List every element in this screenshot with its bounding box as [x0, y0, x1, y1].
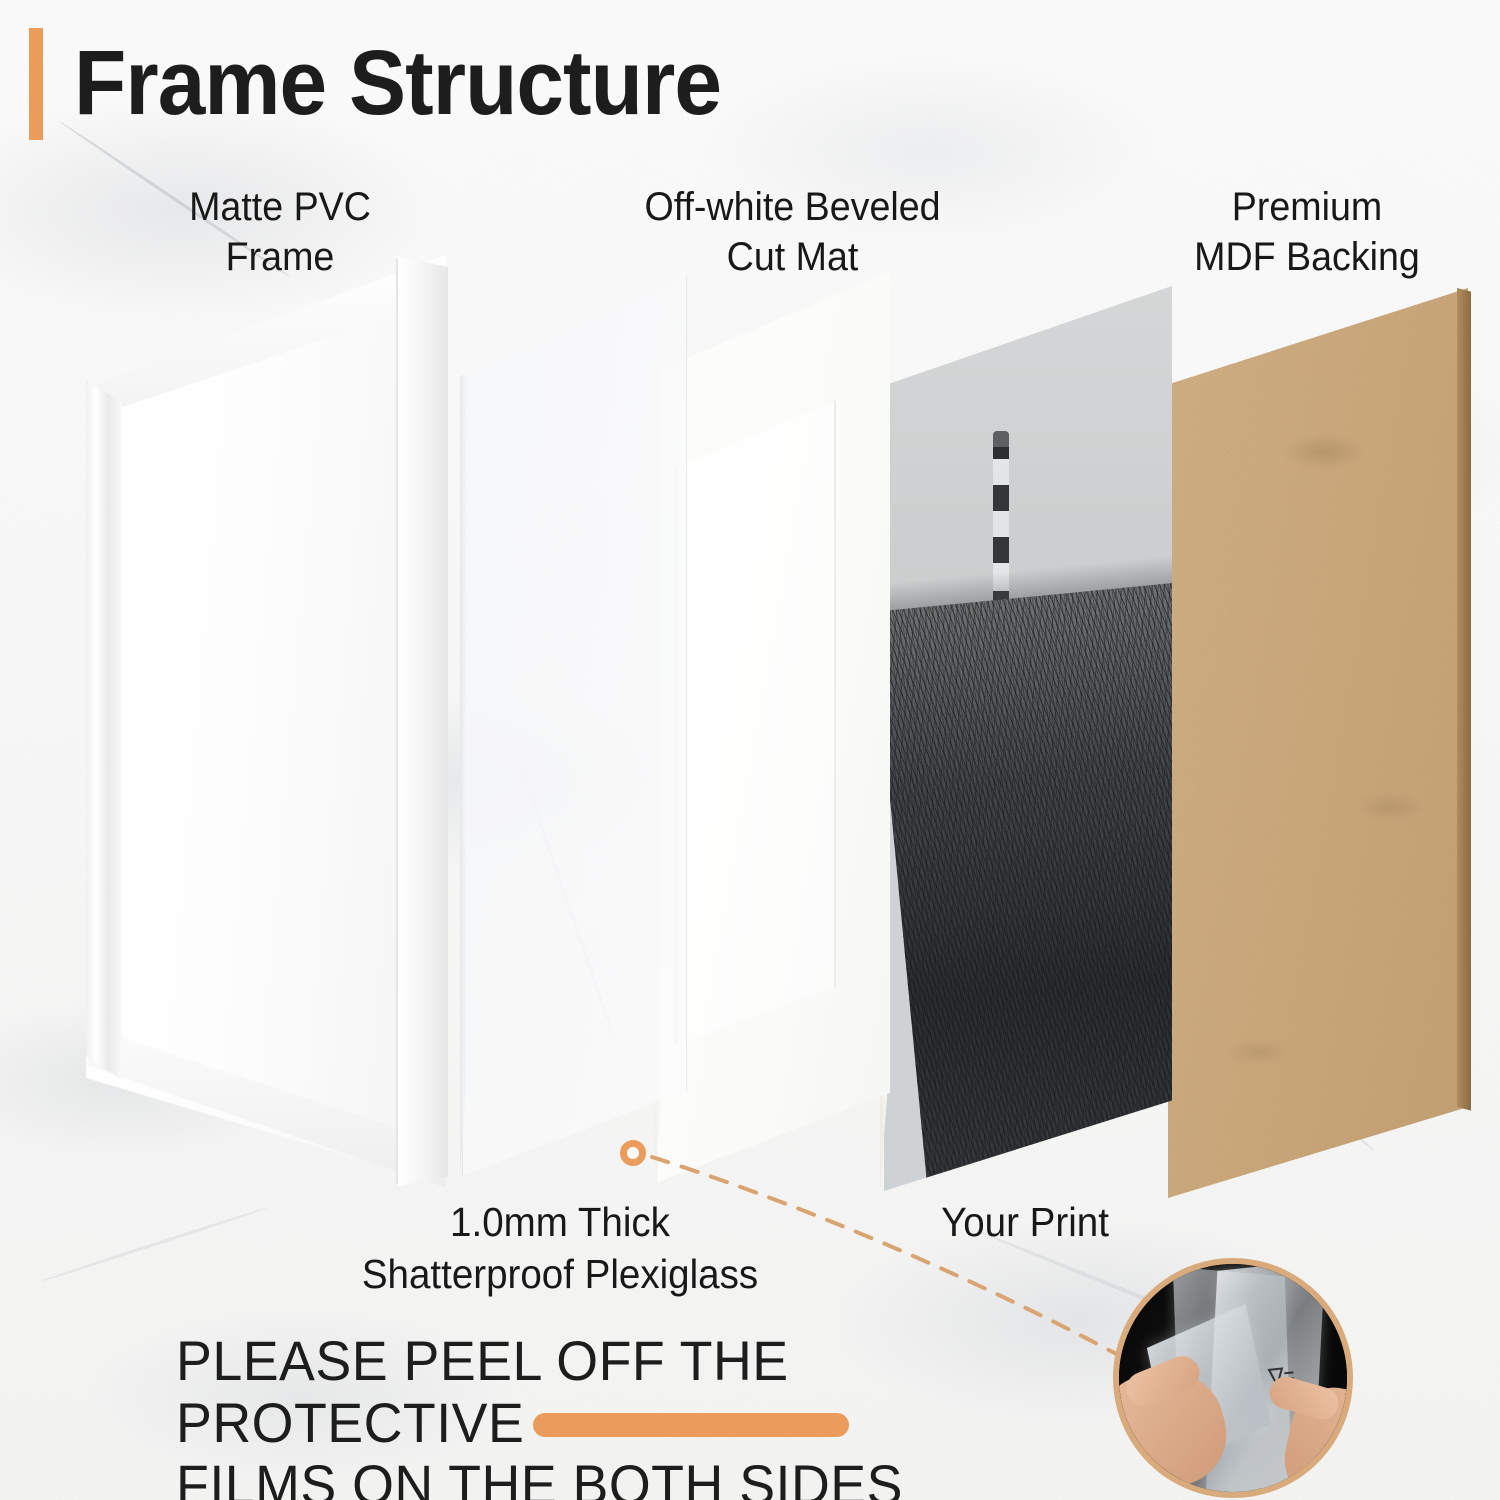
- layer-print-photo: [884, 286, 1172, 1191]
- page-title: Frame Structure: [74, 27, 721, 139]
- banner-line-1: PLEASE PEEL OFF THE PROTECTIVE: [176, 1330, 1021, 1454]
- mdf-backing-edge: [1457, 288, 1471, 1198]
- label-matte-pvc-frame: Matte PVC Frame: [139, 182, 421, 282]
- label-mdf-backing: Premium MDF Backing: [1161, 182, 1452, 282]
- banner-text: PLEASE PEEL OFF THE PROTECTIVE FILMS ON …: [176, 1330, 1021, 1500]
- protective-film-inset-photo: [1113, 1258, 1353, 1498]
- label-cut-mat: Off-white Beveled Cut Mat: [616, 182, 969, 282]
- plexiglass-edge: [460, 276, 466, 1176]
- cut-mat-opening: [676, 400, 836, 1045]
- mdf-grain-texture: [1168, 288, 1468, 1198]
- print-dune-grass: [884, 581, 1172, 1191]
- label-plexiglass: 1.0mm Thick Shatterproof Plexiglass: [316, 1196, 805, 1300]
- pointer-origin-marker: [620, 1140, 646, 1166]
- banner-line-2: FILMS ON THE BOTH SIDES: [176, 1454, 1021, 1500]
- layer-mdf-backing: [1168, 288, 1468, 1198]
- infographic-canvas: Frame Structure Matte PVC Fram: [0, 0, 1500, 1500]
- label-your-print: Your Print: [898, 1196, 1152, 1248]
- frame-rail-left: [86, 380, 122, 1080]
- frame-rail-right: [398, 256, 448, 1186]
- layer-plexiglass: [462, 276, 687, 1176]
- title-accent-bar: [29, 28, 43, 140]
